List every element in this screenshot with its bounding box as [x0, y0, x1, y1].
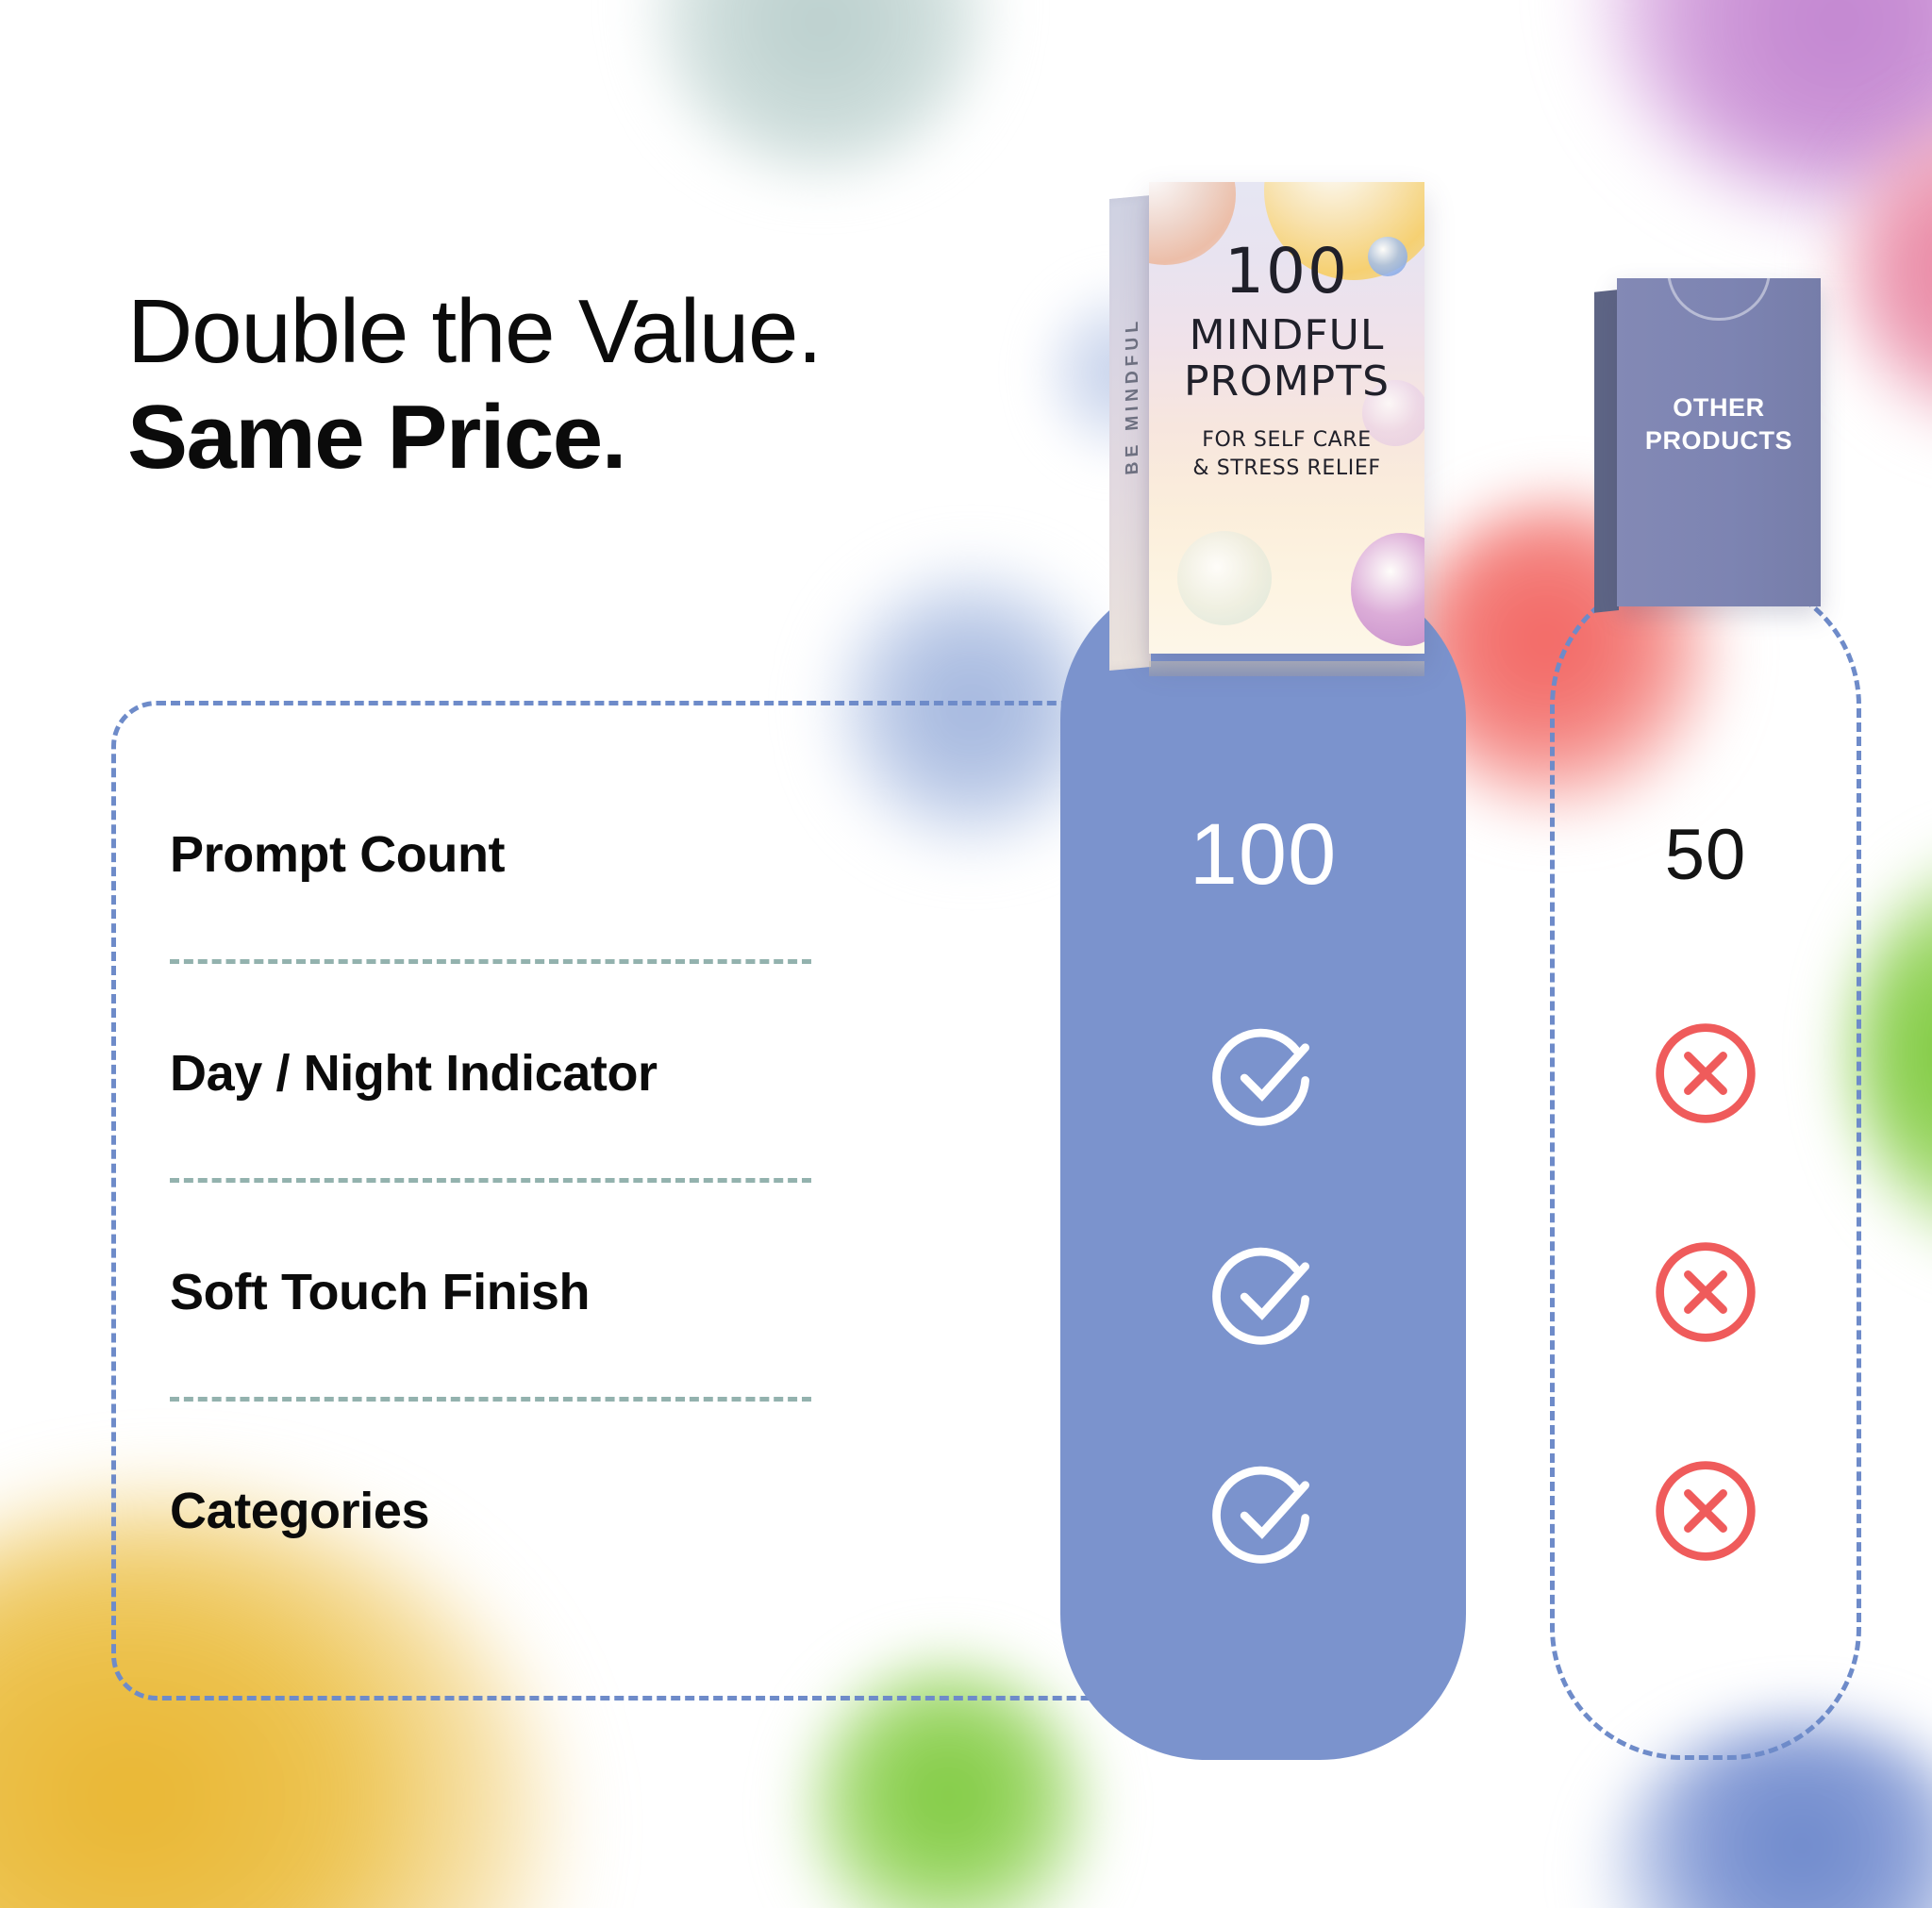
value-number: 100 — [1190, 805, 1338, 904]
other-box-side — [1594, 290, 1619, 613]
bubble-purple-icon — [1351, 533, 1424, 646]
check-icon — [1205, 1015, 1322, 1132]
other-box-label: OTHER PRODUCTS — [1617, 391, 1821, 456]
table-row: Soft Touch Finish — [170, 1183, 1038, 1402]
value-cell-theirs-categories — [1550, 1402, 1861, 1620]
feature-label: Categories — [170, 1482, 429, 1540]
table-row: Day / Night Indicator — [170, 964, 1038, 1183]
table-row: Categories — [170, 1402, 1038, 1620]
table-row: Prompt Count — [170, 745, 1038, 964]
box-notch-icon — [1667, 278, 1771, 321]
other-products-values: 50 — [1550, 745, 1861, 1620]
comparison-infographic: Double the Value. Same Price. Prompt Cou… — [0, 0, 1932, 1908]
blob-green-right — [1854, 854, 1932, 1250]
product-line-1: MINDFUL — [1149, 312, 1424, 358]
other-box-label-line-1: OTHER — [1617, 391, 1821, 424]
product-package-ours: BE MINDFUL 100 MINDFUL PROMPTS FOR SELF … — [1109, 182, 1424, 676]
headline-line-2: Same Price. — [127, 389, 822, 487]
other-box-front: OTHER PRODUCTS — [1617, 278, 1821, 606]
value-cell-theirs-day-night — [1550, 964, 1861, 1183]
check-icon — [1205, 1452, 1322, 1569]
value-cell-theirs-prompt-count: 50 — [1550, 745, 1861, 964]
feature-label: Day / Night Indicator — [170, 1044, 658, 1103]
check-icon — [1205, 1234, 1322, 1351]
product-spine-label: BE MINDFUL — [1123, 207, 1143, 586]
value-cell-ours-categories — [1060, 1402, 1466, 1620]
blob-teal-top — [651, 0, 991, 174]
product-package-other: OTHER PRODUCTS — [1594, 278, 1821, 613]
value-cell-ours-day-night — [1060, 964, 1466, 1183]
value-number: 50 — [1665, 814, 1747, 896]
bubble-green-icon — [1177, 531, 1272, 625]
feature-label: Prompt Count — [170, 825, 505, 884]
product-subtitle-2: & STRESS RELIEF — [1149, 455, 1424, 484]
product-box-bottom-edge — [1149, 661, 1424, 676]
product-subtitle-1: FOR SELF CARE — [1149, 426, 1424, 456]
value-cell-ours-soft-touch — [1060, 1183, 1466, 1402]
cross-icon — [1647, 1015, 1764, 1132]
cross-icon — [1647, 1234, 1764, 1351]
headline-line-1: Double the Value. — [127, 283, 822, 381]
our-product-values: 100 — [1060, 745, 1466, 1620]
product-count: 100 — [1149, 241, 1424, 303]
value-cell-theirs-soft-touch — [1550, 1183, 1861, 1402]
value-cell-ours-prompt-count: 100 — [1060, 745, 1466, 964]
product-box-front: 100 MINDFUL PROMPTS FOR SELF CARE & STRE… — [1149, 182, 1424, 654]
feature-label-list: Prompt Count Day / Night Indicator Soft … — [170, 745, 1038, 1620]
product-line-2: PROMPTS — [1149, 358, 1424, 405]
feature-label: Soft Touch Finish — [170, 1263, 590, 1321]
product-box-spine: BE MINDFUL — [1109, 195, 1151, 671]
other-box-label-line-2: PRODUCTS — [1617, 424, 1821, 457]
cross-icon — [1647, 1452, 1764, 1569]
product-box-text: 100 MINDFUL PROMPTS FOR SELF CARE & STRE… — [1149, 241, 1424, 484]
page-title: Double the Value. Same Price. — [127, 283, 822, 486]
